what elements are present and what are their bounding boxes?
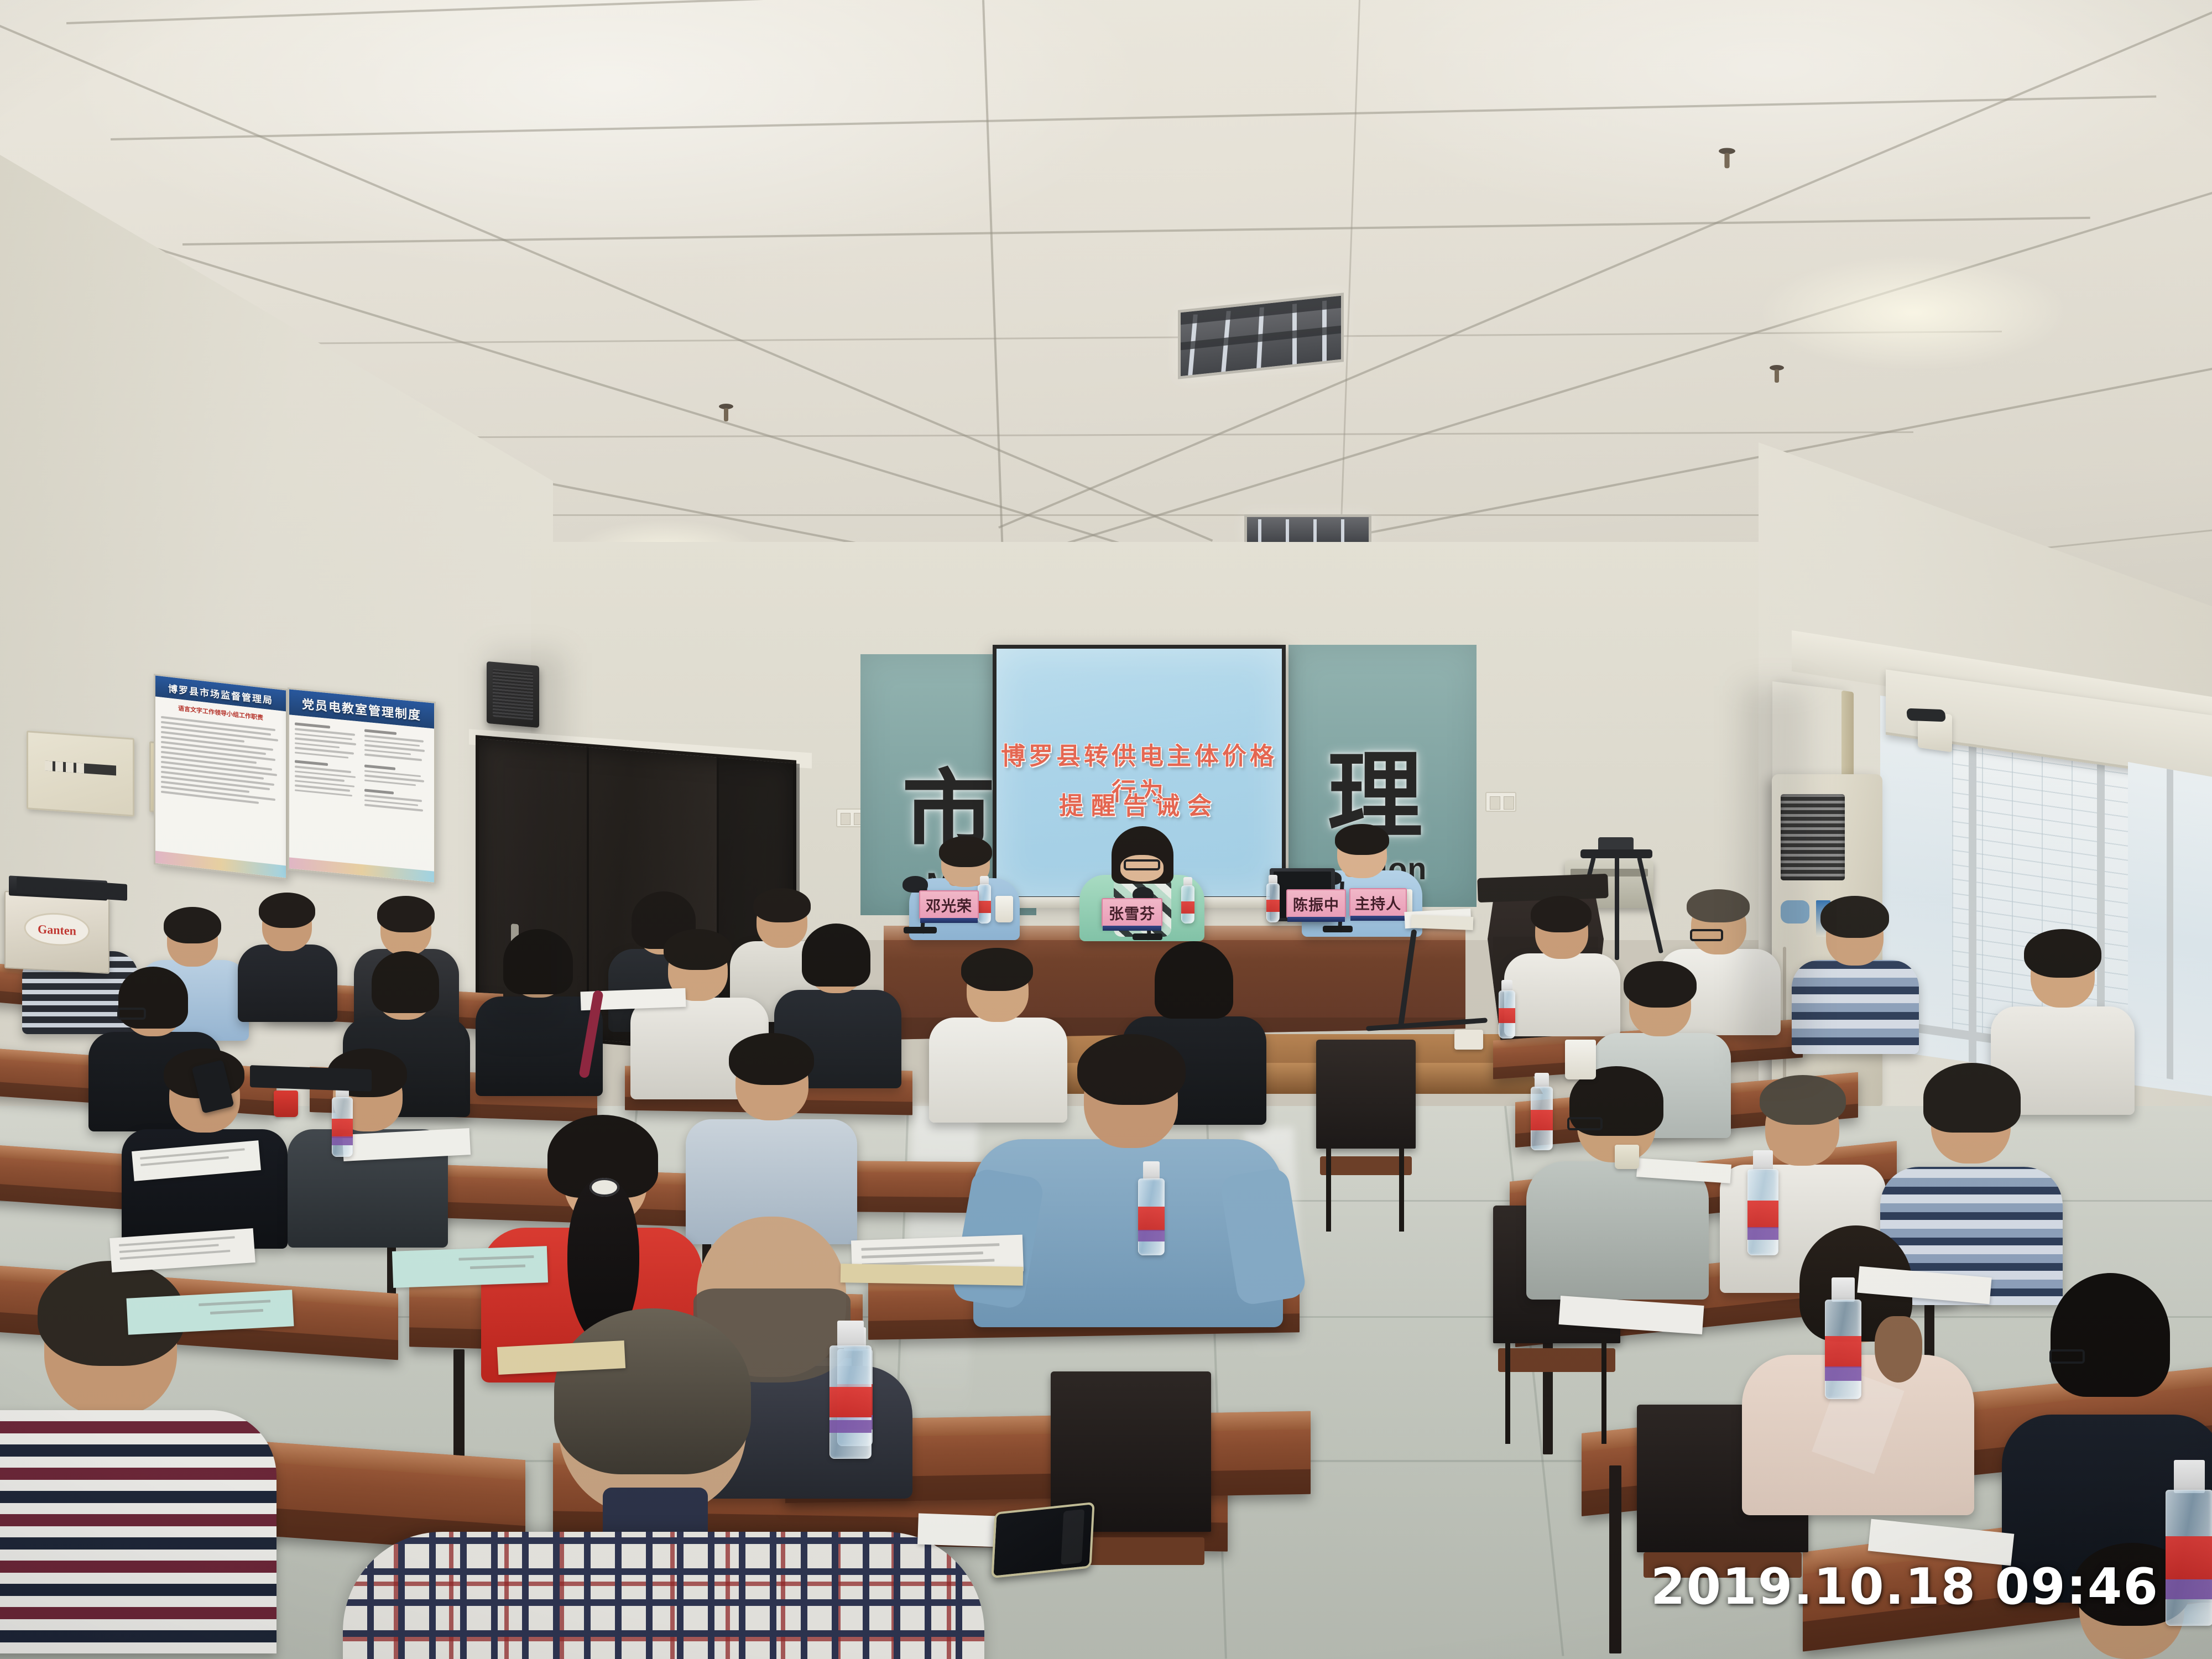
water-bottle[interactable] (1747, 1150, 1778, 1255)
water-bottle[interactable] (1499, 980, 1515, 1039)
nameplate-label: 陈振中 (1293, 893, 1339, 915)
paper-cup[interactable] (1565, 1040, 1596, 1079)
slide-title-line2: 提醒告诫会 (997, 786, 1282, 821)
exterior-window-2 (2128, 762, 2212, 1087)
sprinkler-head-icon (1770, 365, 1784, 384)
ceiling-grid-line (182, 217, 2090, 246)
ceiling-grid-line (66, 0, 2212, 24)
attendee (686, 1018, 857, 1228)
glasses-icon (1124, 859, 1160, 870)
document-sheet (1411, 915, 1474, 930)
water-bottle[interactable] (1825, 1277, 1861, 1399)
hair-strands (1875, 1316, 1922, 1383)
ceiling-grid-line (998, 0, 2212, 529)
photo-timestamp: 2019.10.18 09:46 (1651, 1558, 2159, 1616)
ceiling-grid-line (111, 96, 2156, 140)
nameplate-label: 邓光荣 (926, 894, 972, 916)
water-bottle[interactable] (2166, 1460, 2212, 1626)
attendee-striped-polo (1792, 887, 1919, 1047)
nameplate-chen-zhenzhong: 陈振中 (1286, 889, 1346, 918)
wall-poster-1: 博罗县市场监督管理局 语言文字工作领导小组工作职责 (154, 674, 288, 880)
nameplate-label: 张雪芬 (1109, 902, 1155, 924)
wall-poster-2: 党员电教室管理制度 (288, 687, 436, 884)
ceiling-light-glow (1759, 254, 2068, 371)
ceiling-grid-line (420, 514, 1814, 516)
attendee (238, 883, 337, 1015)
water-bottle[interactable] (1138, 1161, 1165, 1255)
water-bottle-foreground[interactable] (830, 1321, 872, 1459)
nameplate-deng-guangrong: 邓光荣 (919, 890, 979, 919)
water-bottle[interactable] (1531, 1073, 1553, 1150)
nameplate-zhang-xuefen: 张雪芬 (1102, 898, 1162, 927)
manila-folder (841, 1264, 1024, 1286)
chair[interactable] (1316, 1040, 1416, 1228)
water-carton-box: Ganten (4, 891, 109, 974)
document-sheet-mint (392, 1246, 548, 1288)
carton-brand-label: Ganten (38, 922, 76, 938)
water-bottle[interactable] (332, 1084, 353, 1157)
light-switch-plate[interactable] (1485, 792, 1516, 812)
nameplate-host: 主持人 (1349, 888, 1407, 917)
water-bottle[interactable] (1181, 877, 1194, 924)
meeting-room-photo: 博罗县市场监督管理局 语言文字工作领导小组工作职责 党员电教室管理制度 (0, 0, 2212, 1659)
sprinkler-head-icon (719, 404, 733, 422)
wall-bracket (1906, 708, 1946, 722)
red-cup[interactable] (274, 1091, 298, 1117)
smartphone[interactable] (991, 1502, 1094, 1578)
foreground-attendee-checked-shirt (343, 1316, 984, 1659)
power-strip[interactable] (1454, 1030, 1483, 1050)
panelist-hair (1335, 824, 1389, 855)
desk-leg (1609, 1465, 1621, 1653)
paper-cup[interactable] (995, 896, 1013, 922)
nameplate-label: 主持人 (1355, 892, 1401, 914)
ceiling-grid-line (332, 431, 1913, 439)
sprinkler-head-icon (1719, 148, 1735, 169)
electrical-panel-box (27, 731, 134, 817)
ceiling-light-fixture (1178, 293, 1344, 379)
water-bottle[interactable] (1266, 875, 1280, 922)
paper-cup[interactable] (1615, 1145, 1639, 1169)
tablet-device[interactable] (250, 1065, 372, 1092)
water-bottle[interactable] (978, 876, 991, 924)
hair-clip (589, 1178, 619, 1197)
panelist-hair (939, 836, 992, 867)
